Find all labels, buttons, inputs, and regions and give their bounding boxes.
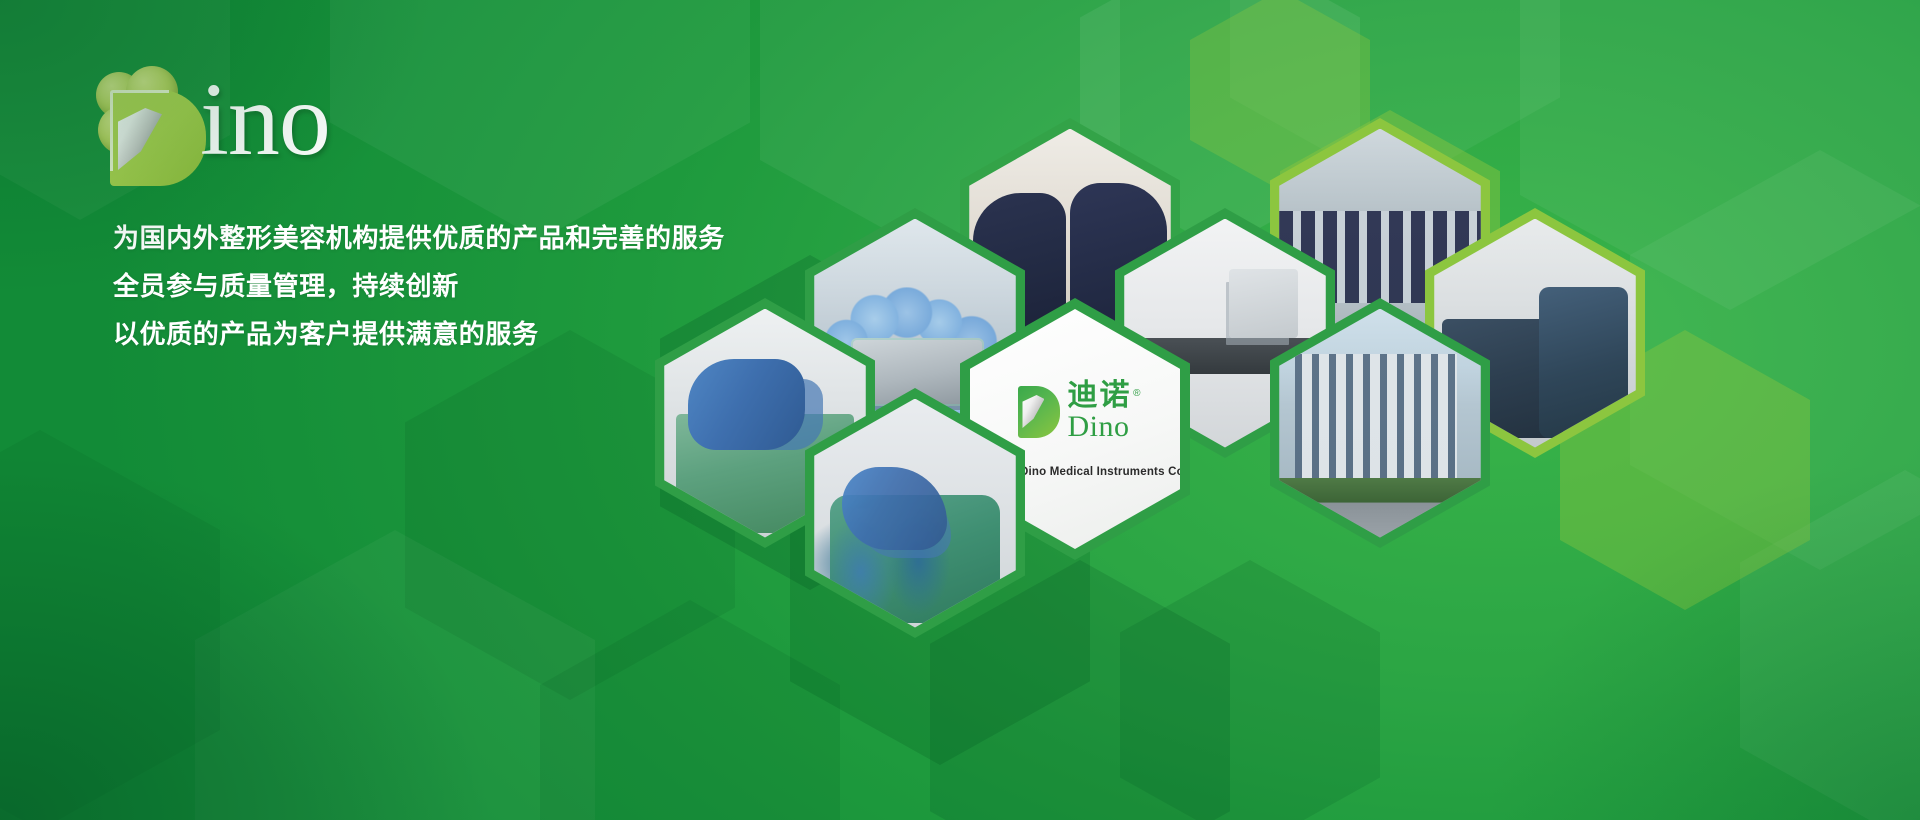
- registered-mark-icon: ®: [1133, 379, 1142, 409]
- dino-logo[interactable]: ino: [88, 62, 428, 182]
- logo-lockup: 迪诺® Dino: [1018, 381, 1131, 442]
- photo-building: [1279, 309, 1481, 538]
- photo-hex-cluster: 迪诺® Dino Hangzhou Dino Medical Instrumen…: [660, 60, 1900, 760]
- dino-wordmark-text: ino: [200, 68, 330, 172]
- photo-packaging: [814, 399, 1016, 628]
- logo-english-name: Dino: [1067, 412, 1129, 442]
- dino-leaf-d-icon: [110, 90, 206, 186]
- slogan-line-3: 以优质的产品为客户提供满意的服务: [113, 310, 725, 358]
- slogan-line-1: 为国内外整形美容机构提供优质的产品和完善的服务: [113, 214, 725, 262]
- slogan-block: 为国内外整形美容机构提供优质的产品和完善的服务 全员参与质量管理，持续创新 以优…: [113, 214, 725, 358]
- dino-leaf-mark-icon: [1018, 386, 1060, 438]
- hero-banner: ino 为国内外整形美容机构提供优质的产品和完善的服务 全员参与质量管理，持续创…: [0, 0, 1920, 820]
- bg-hexagon-12: [0, 430, 220, 820]
- slogan-line-2: 全员参与质量管理，持续创新: [113, 262, 725, 310]
- bg-hexagon-10: [195, 530, 595, 820]
- logo-chinese-name: 迪诺®: [1067, 381, 1131, 411]
